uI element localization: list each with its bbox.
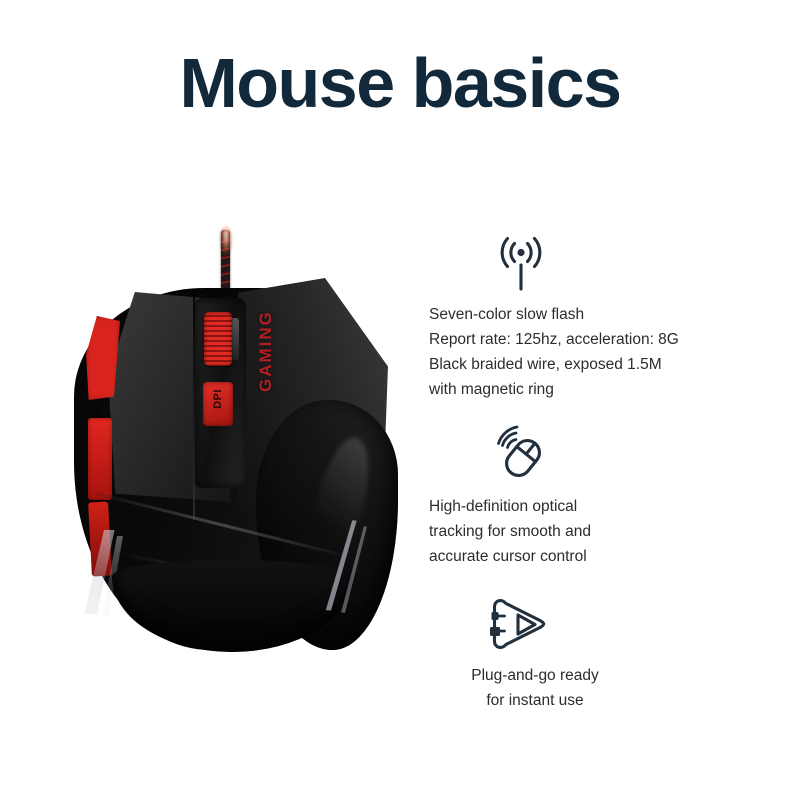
feature-1-line-3: Black braided wire, exposed 1.5M	[420, 352, 760, 377]
feature-1-line-4: with magnetic ring	[420, 377, 760, 402]
gaming-brand-label: GAMING	[256, 292, 286, 410]
wireless-signal-icon	[490, 232, 552, 294]
wireless-mouse-icon	[490, 424, 552, 486]
feature-list: Seven-color slow flash Report rate: 125h…	[420, 232, 760, 721]
feature-item-seven-color-flash: Seven-color slow flash Report rate: 125h…	[420, 232, 760, 402]
dpi-button: DPI	[203, 382, 233, 426]
feature-2-line-2: tracking for smooth and	[420, 519, 760, 544]
plug-and-play-icon	[478, 593, 550, 655]
dpi-button-label: DPI	[212, 382, 224, 419]
scroll-wheel	[204, 312, 232, 366]
button-split-line	[193, 290, 195, 520]
feature-1-line-2: Report rate: 125hz, acceleration: 8G	[420, 327, 760, 352]
feature-3-line-1: Plug-and-go ready	[440, 663, 630, 688]
gaming-mouse-photo: GAMING DPI	[60, 230, 410, 660]
thumb-button-middle	[88, 418, 112, 500]
feature-1-line-1: Seven-color slow flash	[420, 302, 760, 327]
cable-highlight	[220, 226, 232, 256]
feature-item-plug-and-go: Plug-and-go ready for instant use	[420, 593, 760, 713]
page-title: Mouse basics	[0, 48, 800, 118]
feature-2-line-1: High-definition optical	[420, 494, 760, 519]
poster-canvas: Mouse basics GAMING DPI	[0, 0, 800, 800]
feature-2-line-3: accurate cursor control	[420, 544, 760, 569]
feature-3-line-2: for instant use	[440, 688, 630, 713]
feature-item-optical-tracking: High-definition optical tracking for smo…	[420, 424, 760, 569]
